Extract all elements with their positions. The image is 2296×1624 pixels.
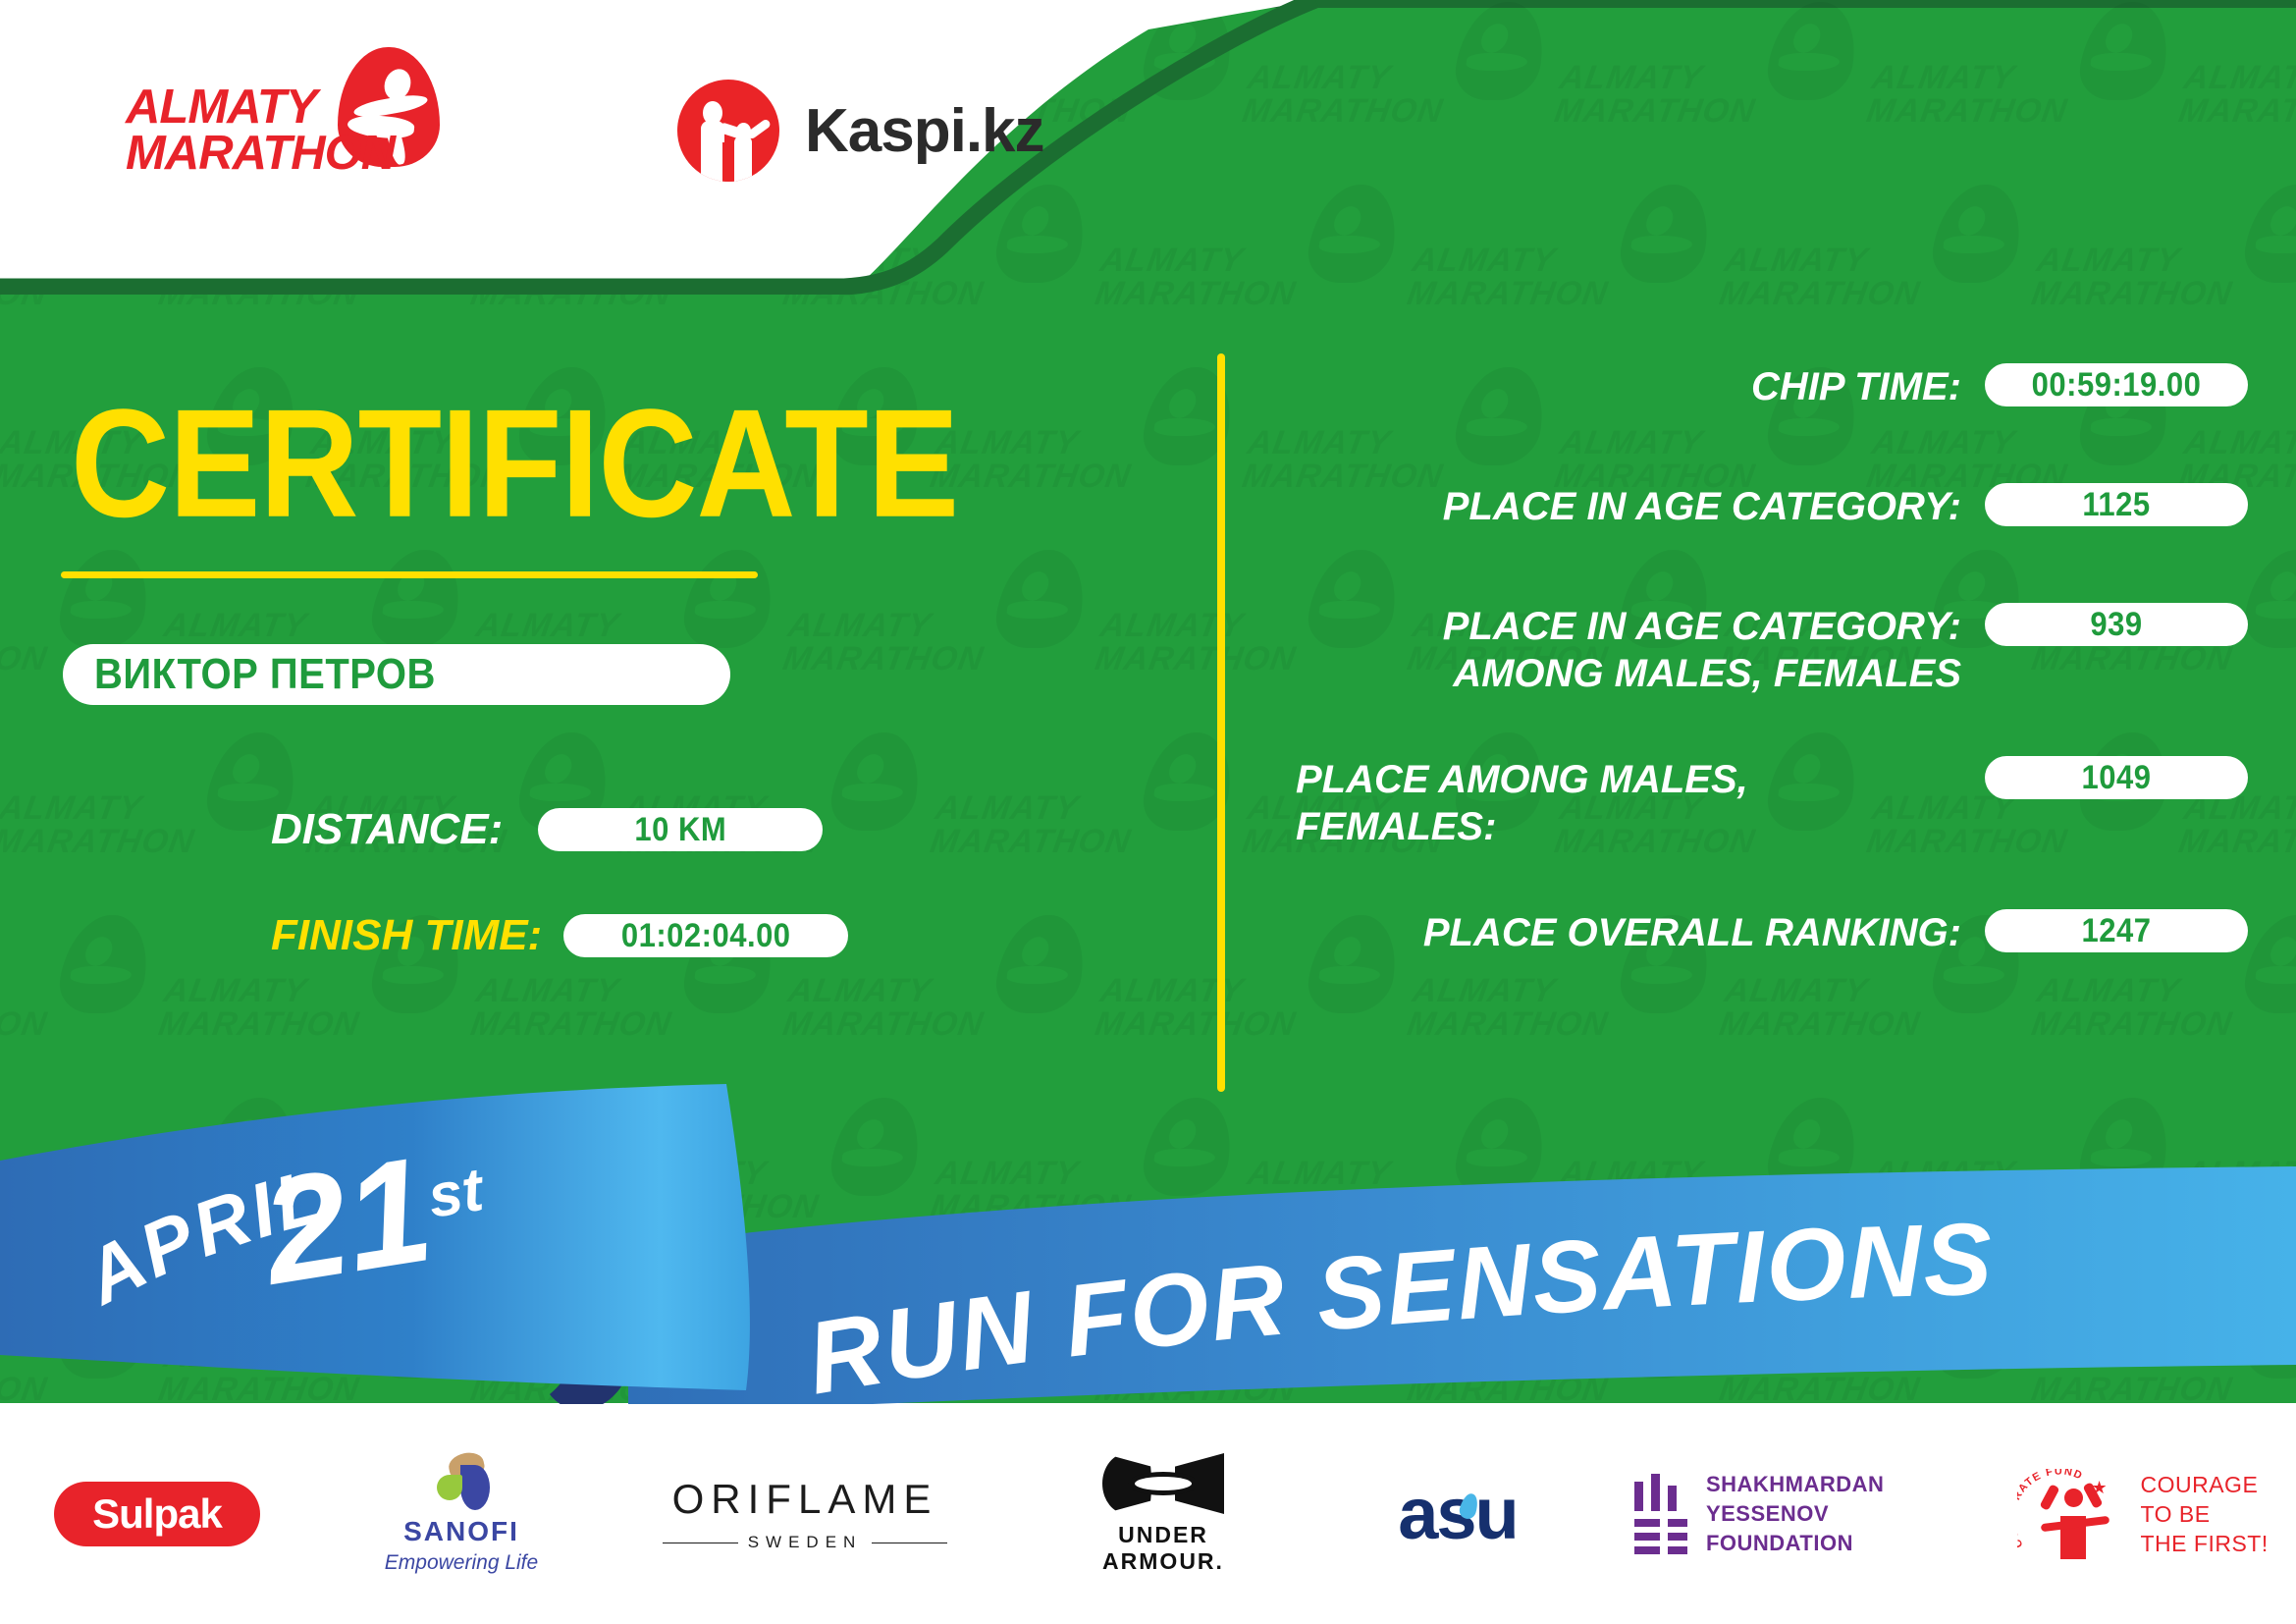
label-line-2: FEMALES: bbox=[1296, 805, 1496, 848]
watermark-line-2: MARATHON bbox=[1405, 277, 1610, 310]
sponsor-strip: Sulpak SANOFI Empowering Life ORIFLAME S… bbox=[0, 1404, 2296, 1624]
label-line-1: PLACE AMONG MALES, bbox=[1296, 758, 1748, 801]
courage-line-2: TO BE bbox=[2141, 1501, 2211, 1527]
yessenov-line-1: SHAKHMARDAN YESSENOV bbox=[1706, 1472, 1885, 1526]
watermark-runner-icon bbox=[2240, 550, 2296, 648]
watermark-tile: ALMATYMARATHON bbox=[2026, 1278, 2296, 1403]
watermark-line-2: MARATHON bbox=[1552, 1190, 1757, 1223]
watermark-tile: ALMATYMARATHON bbox=[1402, 1278, 1720, 1403]
under-armour-logo: UNDER ARMOUR. bbox=[1055, 1453, 1271, 1575]
watermark-runner-icon bbox=[1304, 185, 1404, 283]
watermark-tile: ALMATYMARATHON bbox=[1714, 1278, 2032, 1403]
athlete-name-value: ВИКТОР ПЕТРОВ bbox=[94, 651, 436, 699]
left-column: CERTIFICATE ВИКТОР ПЕТРОВ DISTANCE: 10 K… bbox=[0, 0, 1217, 1403]
athlete-name-field: ВИКТОР ПЕТРОВ bbox=[63, 644, 730, 705]
finish-time-value: 01:02:04.00 bbox=[621, 916, 791, 955]
place-age-category-gender-label: PLACE IN AGE CATEGORY: AMONG MALES, FEMA… bbox=[1266, 603, 1985, 697]
watermark-line-1: ALMATY bbox=[1870, 1157, 2018, 1190]
watermark-runner-icon bbox=[2240, 185, 2296, 283]
watermark-tile: ALMATYMARATHON bbox=[1237, 1096, 1555, 1243]
distance-label: DISTANCE: bbox=[271, 805, 503, 854]
yessenov-wordmark: SHAKHMARDAN YESSENOV FOUNDATION bbox=[1706, 1470, 1958, 1558]
watermark-runner-icon bbox=[1616, 185, 1716, 283]
watermark-tile: ALMATYMARATHON bbox=[1402, 183, 1720, 330]
watermark-runner-icon bbox=[1616, 1280, 1716, 1379]
watermark-tile: ALMATYMARATHON bbox=[1549, 1096, 1867, 1243]
watermark-tile: ALMATYMARATHON bbox=[2173, 0, 2296, 147]
place-overall-label: PLACE OVERALL RANKING: bbox=[1266, 909, 1985, 956]
watermark-runner-icon bbox=[1763, 2, 1863, 100]
chip-time-label: CHIP TIME: bbox=[1266, 363, 1985, 410]
distance-value: 10 KM bbox=[634, 810, 726, 849]
watermark-runner-icon bbox=[2240, 1280, 2296, 1379]
watermark-runner-icon bbox=[1304, 1280, 1404, 1379]
watermark-line-1: ALMATY bbox=[1246, 1157, 1394, 1190]
sponsor-under-armour: UNDER ARMOUR. bbox=[1001, 1435, 1325, 1593]
watermark-line-2: MARATHON bbox=[1240, 94, 1445, 128]
watermark-line-2: MARATHON bbox=[2176, 1190, 2296, 1223]
watermark-line-2: MARATHON bbox=[1717, 1007, 1922, 1041]
watermark-tile: ALMATYMARATHON bbox=[1549, 0, 1867, 147]
chip-time-value-pill: 00:59:19.00 bbox=[1985, 363, 2248, 406]
watermark-runner-icon bbox=[1763, 1098, 1863, 1196]
sponsor-asu: asu bbox=[1325, 1435, 1590, 1593]
watermark-line-2: MARATHON bbox=[1717, 1373, 1922, 1403]
sulpak-logo: Sulpak bbox=[54, 1482, 260, 1546]
watermark-runner-icon bbox=[2240, 915, 2296, 1013]
watermark-line-1: ALMATY bbox=[1870, 426, 2018, 460]
watermark-line-1: ALMATY bbox=[1723, 974, 1871, 1007]
watermark-line-2: MARATHON bbox=[2176, 94, 2296, 128]
stat-row-place-age-category: PLACE IN AGE CATEGORY: 1125 bbox=[1266, 483, 2248, 530]
watermark-line-1: ALMATY bbox=[2182, 1157, 2296, 1190]
watermark-line-1: ALMATY bbox=[1723, 1339, 1871, 1373]
watermark-line-2: MARATHON bbox=[2029, 1373, 2234, 1403]
sponsor-oriflame: ORIFLAME SWEDEN bbox=[609, 1435, 1001, 1593]
watermark-line-1: ALMATY bbox=[1558, 61, 1706, 94]
yessenov-bars-icon bbox=[1634, 1474, 1684, 1554]
under-armour-wordmark: UNDER ARMOUR. bbox=[1055, 1522, 1271, 1575]
place-age-category-value: 1125 bbox=[2082, 485, 2150, 524]
stat-row-place-overall: PLACE OVERALL RANKING: 1247 bbox=[1266, 909, 2248, 956]
watermark-line-2: MARATHON bbox=[1240, 1190, 1445, 1223]
watermark-tile: ALMATYMARATHON bbox=[2026, 183, 2296, 330]
watermark-line-1: ALMATY bbox=[2035, 1339, 2183, 1373]
sanofi-leaf-icon bbox=[427, 1453, 496, 1510]
page-title: CERTIFICATE bbox=[71, 381, 958, 546]
label-line-1: PLACE IN AGE CATEGORY: bbox=[1443, 605, 1961, 648]
watermark-line-1: ALMATY bbox=[1411, 244, 1559, 277]
title-underline bbox=[61, 571, 758, 578]
sanofi-tagline: Empowering Life bbox=[363, 1551, 560, 1575]
courage-line-3: THE FIRST! bbox=[2141, 1531, 2269, 1556]
watermark-runner-icon bbox=[1451, 1098, 1551, 1196]
yessenov-line-2: FOUNDATION bbox=[1706, 1531, 1853, 1555]
watermark-runner-icon bbox=[1451, 2, 1551, 100]
sponsor-sanofi: SANOFI Empowering Life bbox=[314, 1435, 609, 1593]
watermark-tile: ALMATYMARATHON bbox=[1861, 0, 2179, 147]
watermark-line-2: MARATHON bbox=[2029, 1007, 2234, 1041]
certificate-page: ALMATYMARATHONALMATYMARATHONALMATYMARATH… bbox=[0, 0, 2296, 1624]
watermark-line-1: ALMATY bbox=[1558, 1157, 1706, 1190]
oriflame-wordmark: ORIFLAME bbox=[663, 1476, 947, 1523]
watermark-tile: ALMATYMARATHON bbox=[1237, 0, 1555, 147]
sponsor-sulpak: Sulpak bbox=[0, 1435, 314, 1593]
stat-row-place-among-gender: PLACE AMONG MALES, FEMALES: 1049 bbox=[1266, 756, 2248, 850]
watermark-line-2: MARATHON bbox=[1552, 94, 1757, 128]
rule-left bbox=[663, 1543, 738, 1543]
watermark-runner-icon bbox=[2075, 1098, 2175, 1196]
place-overall-value-pill: 1247 bbox=[1985, 909, 2248, 952]
oriflame-subline: SWEDEN bbox=[663, 1533, 947, 1552]
oriflame-country: SWEDEN bbox=[748, 1533, 863, 1552]
watermark-line-1: ALMATY bbox=[1411, 974, 1559, 1007]
yessenov-logo: SHAKHMARDAN YESSENOV FOUNDATION bbox=[1634, 1470, 1958, 1558]
sulpak-wordmark: Sulpak bbox=[92, 1490, 222, 1538]
courage-runner-icon: ★ bbox=[2045, 1479, 2108, 1559]
stat-row-place-age-category-gender: PLACE IN AGE CATEGORY: AMONG MALES, FEMA… bbox=[1266, 603, 2248, 697]
sponsor-yessenov-foundation: SHAKHMARDAN YESSENOV FOUNDATION bbox=[1590, 1435, 2002, 1593]
place-age-category-gender-value: 939 bbox=[2090, 605, 2142, 644]
watermark-runner-icon bbox=[1928, 1280, 2028, 1379]
watermark-line-2: MARATHON bbox=[1864, 1190, 2069, 1223]
courage-fund-logo: CORPORATE FUND ★ COURAGE TO BE THE FIRST… bbox=[2017, 1467, 2282, 1561]
watermark-tile: ALMATYMARATHON bbox=[2173, 1096, 2296, 1243]
finish-time-value-pill: 01:02:04.00 bbox=[563, 914, 848, 957]
rule-right bbox=[872, 1543, 947, 1543]
asu-wordmark: asu bbox=[1364, 1478, 1551, 1550]
place-overall-value: 1247 bbox=[2082, 911, 2152, 950]
column-divider bbox=[1217, 353, 1225, 1092]
courage-fund-icon: CORPORATE FUND ★ bbox=[2017, 1467, 2125, 1561]
finish-time-label: FINISH TIME: bbox=[271, 911, 542, 960]
distance-row: DISTANCE: 10 KM bbox=[271, 805, 823, 854]
watermark-runner-icon bbox=[1928, 185, 2028, 283]
sanofi-logo: SANOFI Empowering Life bbox=[363, 1453, 560, 1575]
watermark-line-1: ALMATY bbox=[1723, 244, 1871, 277]
watermark-line-1: ALMATY bbox=[2035, 974, 2183, 1007]
place-among-gender-label: PLACE AMONG MALES, FEMALES: bbox=[1266, 756, 1985, 850]
watermark-line-2: MARATHON bbox=[1405, 1007, 1610, 1041]
stat-row-chip-time: CHIP TIME: 00:59:19.00 bbox=[1266, 363, 2248, 410]
place-age-category-value-pill: 1125 bbox=[1985, 483, 2248, 526]
watermark-line-2: MARATHON bbox=[1864, 94, 2069, 128]
asu-logo: asu bbox=[1364, 1478, 1551, 1550]
watermark-line-1: ALMATY bbox=[1558, 426, 1706, 460]
watermark-runner-icon bbox=[2075, 2, 2175, 100]
watermark-line-2: MARATHON bbox=[1405, 1373, 1610, 1403]
courage-line-1: COURAGE bbox=[2141, 1472, 2259, 1497]
watermark-line-1: ALMATY bbox=[2182, 426, 2296, 460]
watermark-line-1: ALMATY bbox=[2035, 244, 2183, 277]
watermark-tile: ALMATYMARATHON bbox=[1714, 183, 2032, 330]
chip-time-value: 00:59:19.00 bbox=[2032, 365, 2202, 405]
finish-time-row: FINISH TIME: 01:02:04.00 bbox=[271, 911, 848, 960]
watermark-line-1: ALMATY bbox=[1246, 61, 1394, 94]
oriflame-logo: ORIFLAME SWEDEN bbox=[663, 1476, 947, 1552]
under-armour-icon bbox=[1102, 1453, 1224, 1514]
label-line-2: AMONG MALES, FEMALES bbox=[1453, 652, 1961, 695]
watermark-line-1: ALMATY bbox=[2182, 61, 2296, 94]
watermark-line-1: ALMATY bbox=[1411, 1339, 1559, 1373]
sanofi-wordmark: SANOFI bbox=[363, 1516, 560, 1547]
watermark-line-1: ALMATY bbox=[1246, 426, 1394, 460]
place-among-gender-value-pill: 1049 bbox=[1985, 756, 2248, 799]
place-age-category-gender-value-pill: 939 bbox=[1985, 603, 2248, 646]
courage-fund-wordmark: COURAGE TO BE THE FIRST! bbox=[2141, 1470, 2269, 1558]
distance-value-pill: 10 KM bbox=[538, 808, 823, 851]
watermark-tile: ALMATYMARATHON bbox=[1861, 1096, 2179, 1243]
place-age-category-label: PLACE IN AGE CATEGORY: bbox=[1266, 483, 1985, 530]
sponsor-courage-fund: CORPORATE FUND ★ COURAGE TO BE THE FIRST… bbox=[2002, 1435, 2296, 1593]
place-among-gender-value: 1049 bbox=[2082, 758, 2152, 797]
watermark-line-2: MARATHON bbox=[2029, 277, 2234, 310]
watermark-line-1: ALMATY bbox=[1870, 61, 2018, 94]
watermark-line-2: MARATHON bbox=[1717, 277, 1922, 310]
